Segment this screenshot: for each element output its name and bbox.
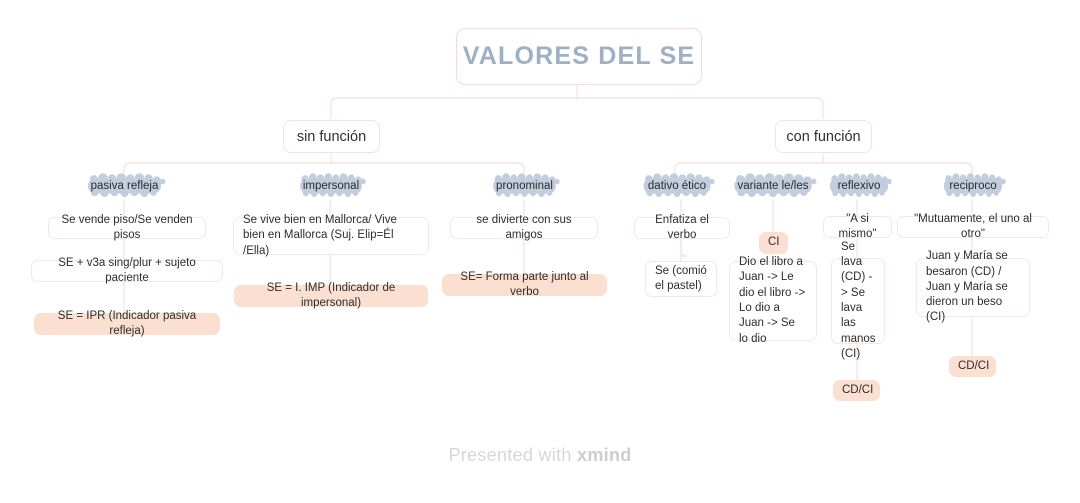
leaf-variante-ejemplo[interactable]: Dio el libro a Juan -> Le dio el libro -… [729,261,817,341]
leaf-reflexivo-ejemplo[interactable]: Se lava (CD) -> Se lava las manos (CI) [831,258,885,344]
leaf-reflexivo-significado-label: "A si mismo" [833,212,882,243]
category-reciproco[interactable]: reciproco [940,172,1006,199]
branch-sin-funcion[interactable]: sin función [283,120,380,153]
leaf-dativo-funcion-label: Enfatiza el verbo [644,213,720,244]
leaf-reciproco-ejemplo[interactable]: Juan y María se besaron (CD) / Juan y Ma… [916,258,1030,317]
category-variante-le-les-label: variante le/les [729,180,817,192]
leaf-impersonal-ejemplo-label: Se vive bien en Mallorca/ Vive bien en M… [243,213,419,259]
leaf-pronominal-ejemplo-label: se divierte con sus amigos [460,213,588,244]
leaf-pasiva-ejemplo-label: Se vende piso/Se venden pisos [58,213,196,244]
leaf-reciproco-funcion-label: CD/CI [958,359,987,374]
category-reflexivo-label: reflexivo [826,180,892,192]
leaf-reciproco-funcion[interactable]: CD/CI [949,356,996,377]
leaf-variante-ejemplo-label: Dio el libro a Juan -> Le dio el libro -… [739,255,807,347]
category-impersonal[interactable]: impersonal [296,172,366,199]
leaf-pasiva-ejemplo[interactable]: Se vende piso/Se venden pisos [48,217,206,239]
leaf-reflexivo-ejemplo-label: Se lava (CD) -> Se lava las manos (CI) [841,240,875,362]
root-node-label: VALORES DEL SE [457,42,701,71]
category-reciproco-label: reciproco [940,180,1006,192]
leaf-reflexivo-funcion-label: CD/CI [842,383,871,398]
category-reflexivo[interactable]: reflexivo [826,172,892,199]
category-impersonal-label: impersonal [296,180,366,192]
leaf-reciproco-significado-label: "Mutuamente, el uno al otro" [907,212,1039,243]
category-variante-le-les[interactable]: variante le/les [729,172,817,199]
leaf-pasiva-formula-label: SE + v3a sing/plur + sujeto paciente [41,256,213,287]
branch-con-funcion[interactable]: con función [775,120,872,153]
leaf-pasiva-indicador[interactable]: SE = IPR (Indicador pasiva refleja) [34,313,220,335]
category-pronominal-label: pronominal [489,180,560,192]
watermark: Presented with xmind [0,445,1080,466]
leaf-reciproco-significado[interactable]: "Mutuamente, el uno al otro" [897,216,1049,238]
leaf-reciproco-ejemplo-label: Juan y María se besaron (CD) / Juan y Ma… [926,249,1020,325]
leaf-pronominal-indicador[interactable]: SE= Forma parte junto al verbo [442,274,607,296]
leaf-dativo-ejemplo[interactable]: Se (comió el pastel) [645,261,717,297]
leaf-dativo-ejemplo-label: Se (comió el pastel) [655,264,707,295]
leaf-variante-ci[interactable]: CI [759,232,788,254]
category-pronominal[interactable]: pronominal [489,172,560,199]
leaf-impersonal-indicador-label: SE = I. IMP (Indicador de impersonal) [243,281,419,312]
branch-con-funcion-label: con función [776,129,871,145]
leaf-impersonal-indicador[interactable]: SE = I. IMP (Indicador de impersonal) [234,285,428,307]
leaf-pasiva-indicador-label: SE = IPR (Indicador pasiva refleja) [43,309,211,340]
leaf-pasiva-formula[interactable]: SE + v3a sing/plur + sujeto paciente [31,260,223,282]
watermark-prefix: Presented with [448,445,577,465]
leaf-pronominal-ejemplo[interactable]: se divierte con sus amigos [450,217,598,239]
mindmap-canvas: VALORES DEL SE sin función con función p… [0,0,1080,503]
category-dativo-etico-label: dativo ético [639,180,715,192]
leaf-dativo-funcion[interactable]: Enfatiza el verbo [634,217,730,239]
branch-sin-funcion-label: sin función [284,129,379,145]
leaf-pronominal-indicador-label: SE= Forma parte junto al verbo [451,270,598,301]
leaf-reflexivo-significado[interactable]: "A si mismo" [823,216,892,238]
category-pasiva-refleja-label: pasiva refleja [83,180,166,192]
leaf-variante-ci-label: CI [768,235,779,250]
category-pasiva-refleja[interactable]: pasiva refleja [83,172,166,199]
root-node[interactable]: VALORES DEL SE [456,28,702,85]
leaf-impersonal-ejemplo[interactable]: Se vive bien en Mallorca/ Vive bien en M… [233,217,429,255]
watermark-brand: xmind [577,445,632,465]
leaf-reflexivo-funcion[interactable]: CD/CI [833,380,880,401]
category-dativo-etico[interactable]: dativo ético [639,172,715,199]
